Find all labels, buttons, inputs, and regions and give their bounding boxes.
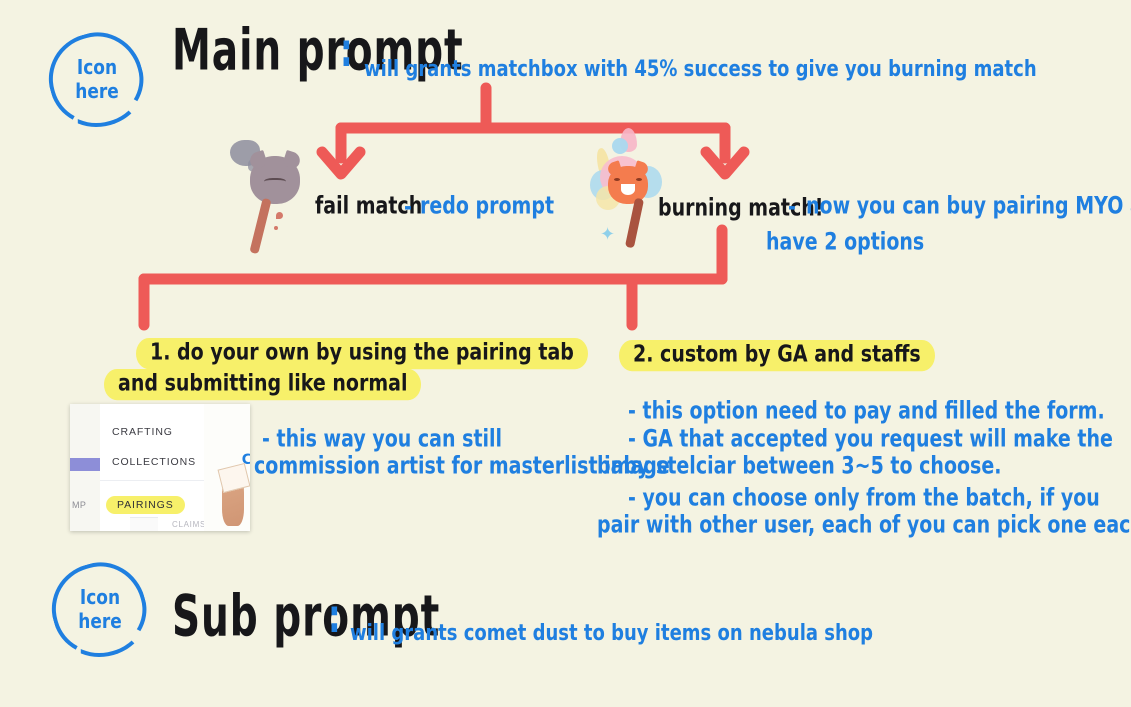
option1-highlight-line2: and submitting like normal [104,369,421,400]
icon-placeholder-text-sub: Icon here [52,586,148,634]
option1-heading-line1: 1. do your own by using the pairing tab [136,338,588,364]
burn-eye-right [636,178,642,181]
screenshot-divider [100,480,204,481]
burn-eye-left [614,178,620,181]
flame-blue-dot [612,138,628,154]
screenshot-purple-marker [70,458,100,471]
burn-mouth [621,184,635,195]
option2-note-line3: baby stelciar between 3~5 to choose. [597,452,1001,480]
screenshot-menu-item-crafting[interactable]: CRAFTING [112,426,173,438]
sub-prompt-description: will grants comet dust to buy items on n… [350,620,873,646]
fail-face [264,178,286,187]
icon-placeholder-sub: Icon here [52,563,148,657]
icon-text-line2-sub: here [52,610,148,634]
option1-highlight-line1: 1. do your own by using the pairing tab [136,338,588,369]
burning-match-action-line2: have 2 options [766,228,924,256]
burning-match-illustration: ✦ [588,128,674,250]
option2-heading: 2. custom by GA and staffs [619,340,935,366]
option2-note-line4: - you can choose only from the batch, if… [628,484,1100,512]
fail-match-dash: - [404,193,412,221]
ember-dot-2 [274,226,278,230]
burning-match-action-line1: now you can buy pairing MYO and [806,192,1131,220]
icon-text-line1: Icon [49,56,145,80]
match-stick-lit [625,198,644,249]
option1-note-line1: - this way you can still [262,425,502,453]
screenshot-menu-item-pairings[interactable]: PAIRINGS [106,496,185,514]
screenshot-menu-panel: CRAFTING COLLECTIONS PAIRINGS CLAIMS [100,404,204,531]
screenshot-side-label: MP [72,500,86,510]
fail-match-illustration [222,138,317,256]
screenshot-menu-item-collections[interactable]: COLLECTIONS [112,456,196,468]
screenshot-right-content: C [204,404,250,531]
burning-match-dash: - [788,193,796,221]
icon-text-line1-sub: Icon [52,586,148,610]
option2-note-line2: - GA that accepted you request will make… [628,425,1113,453]
sub-prompt-colon: : [328,590,342,644]
ember-dot-1 [276,212,283,219]
icon-text-line2: here [49,80,145,104]
pairings-screenshot[interactable]: MP CRAFTING COLLECTIONS PAIRINGS CLAIMS … [70,404,250,531]
burning-match-label: burning match! [658,194,823,222]
option2-note-line1: - this option need to pay and filled the… [628,397,1105,425]
screenshot-claims-label: CLAIMS [172,520,206,529]
screenshot-menu-item-claims[interactable]: CLAIMS [130,517,158,531]
match-stick [249,198,271,255]
infographic-canvas: Icon here Main prompt : will grants matc… [0,0,1131,707]
main-prompt-colon: : [340,24,354,78]
icon-placeholder-main: Icon here [49,33,145,127]
option2-note-line5: pair with other user, each of you can pi… [597,511,1131,539]
main-prompt-description: will grants matchbox with 45% success to… [364,56,1037,82]
option2-highlight-line1: 2. custom by GA and staffs [619,340,935,371]
screenshot-card-art [218,463,250,493]
option1-heading-line2: and submitting like normal [104,369,421,395]
fail-match-action: redo prompt [420,192,554,220]
icon-placeholder-text: Icon here [49,56,145,104]
